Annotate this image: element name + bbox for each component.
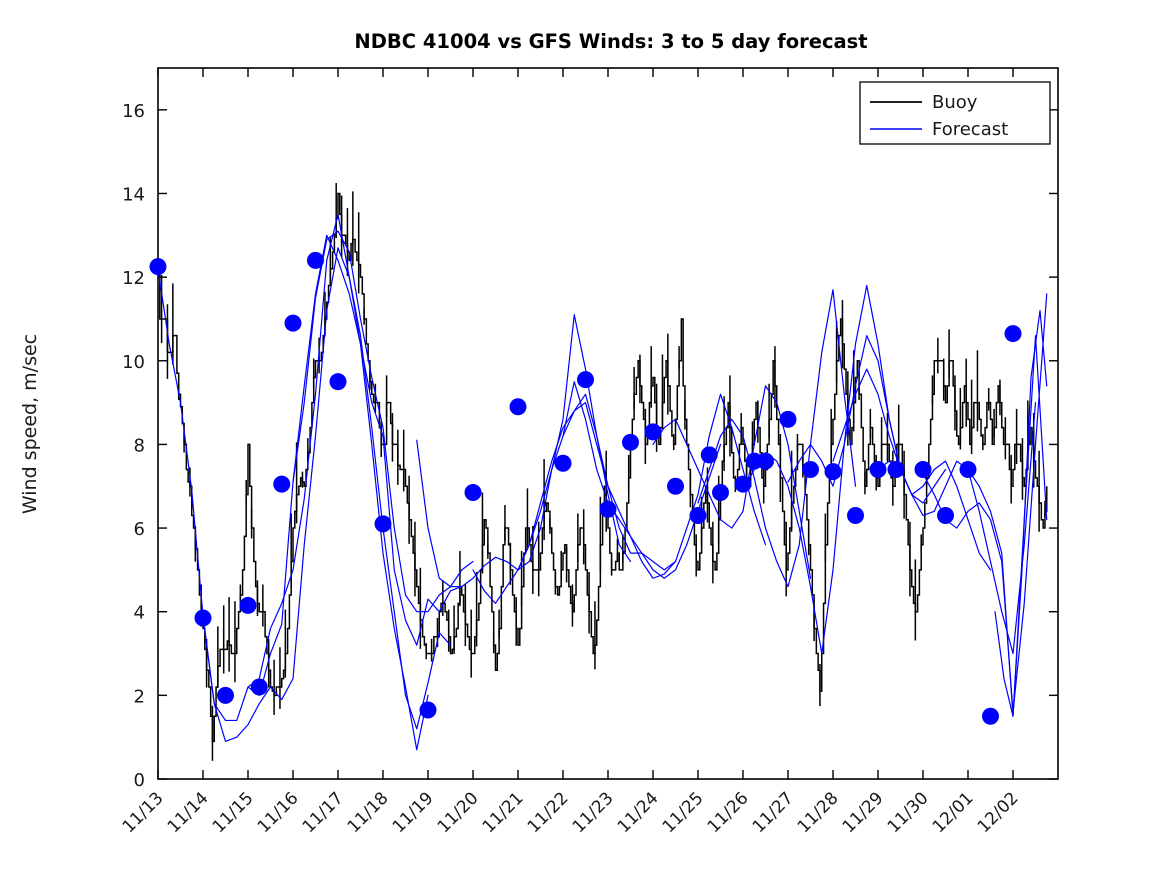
forecast-marker-point <box>510 398 527 415</box>
forecast-marker-point <box>667 478 684 495</box>
forecast-marker-point <box>960 461 977 478</box>
forecast-marker-point <box>622 434 639 451</box>
forecast-marker-point <box>847 507 864 524</box>
forecast-marker-point <box>870 461 887 478</box>
forecast-marker-point <box>195 609 212 626</box>
forecast-marker-point <box>701 446 718 463</box>
forecast-marker-point <box>150 258 167 275</box>
forecast-marker-point <box>273 476 290 493</box>
y-tick-label: 12 <box>122 268 145 289</box>
wind-speed-chart: NDBC 41004 vs GFS Winds: 3 to 5 day fore… <box>0 0 1167 875</box>
forecast-marker-point <box>645 423 662 440</box>
forecast-marker-point <box>735 476 752 493</box>
y-tick-label: 14 <box>122 184 145 205</box>
forecast-marker-point <box>757 453 774 470</box>
y-tick-label: 4 <box>134 603 145 624</box>
forecast-marker-point <box>465 484 482 501</box>
forecast-marker-point <box>690 507 707 524</box>
y-axis-label: Wind speed, m/sec <box>19 334 41 514</box>
forecast-marker-point <box>825 463 842 480</box>
forecast-marker-point <box>888 461 905 478</box>
forecast-marker-point <box>217 687 234 704</box>
forecast-marker-point <box>937 507 954 524</box>
forecast-marker-point <box>712 484 729 501</box>
y-tick-label: 6 <box>134 519 145 540</box>
y-tick-label: 10 <box>122 352 145 373</box>
forecast-marker-point <box>240 597 257 614</box>
forecast-marker-point <box>982 708 999 725</box>
forecast-marker-point <box>802 461 819 478</box>
forecast-marker-point <box>555 455 572 472</box>
forecast-marker-point <box>780 411 797 428</box>
page-title: NDBC 41004 vs GFS Winds: 3 to 5 day fore… <box>354 30 867 53</box>
chart-legend[interactable]: BuoyForecast <box>860 82 1050 144</box>
forecast-marker-point <box>251 678 268 695</box>
forecast-marker-point <box>420 701 437 718</box>
legend-label-forecast: Forecast <box>932 119 1008 140</box>
y-tick-label: 0 <box>134 770 145 791</box>
forecast-marker-point <box>285 315 302 332</box>
y-tick-label: 2 <box>134 686 145 707</box>
forecast-marker-point <box>330 373 347 390</box>
forecast-marker-point <box>915 461 932 478</box>
legend-label-buoy: Buoy <box>932 92 978 113</box>
forecast-marker-point <box>600 501 617 518</box>
forecast-marker-point <box>577 371 594 388</box>
y-tick-label: 8 <box>134 435 145 456</box>
forecast-marker-point <box>307 252 324 269</box>
y-tick-label: 16 <box>122 101 145 122</box>
forecast-marker-point <box>1005 325 1022 342</box>
forecast-marker-point <box>375 515 392 532</box>
